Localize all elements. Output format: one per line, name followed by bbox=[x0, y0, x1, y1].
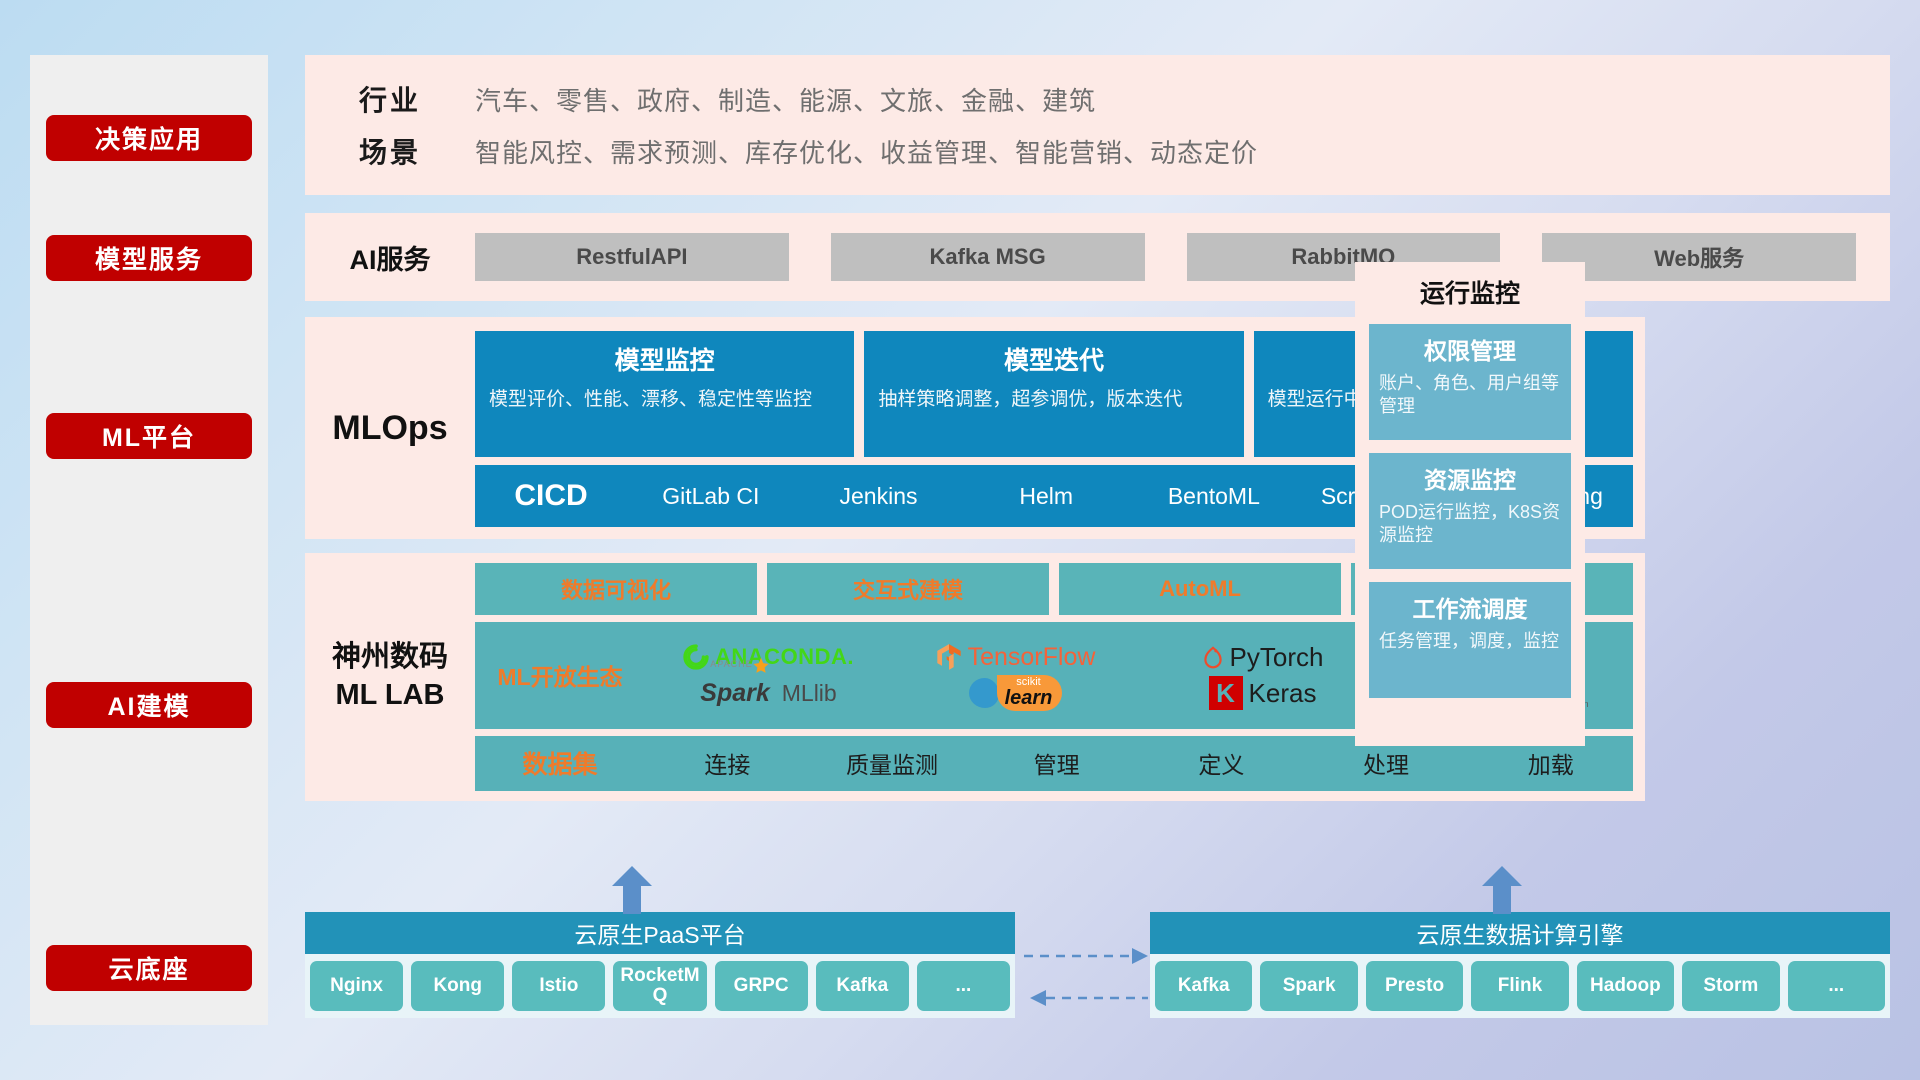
layer-chip-label: 模型服务 bbox=[95, 240, 203, 276]
bidirectional-dashed-arrows bbox=[1020, 938, 1150, 1018]
mlops-card-model-iteration[interactable]: 模型迭代 抽样策略调整，超参调优，版本迭代 bbox=[864, 331, 1243, 457]
card-title: 模型监控 bbox=[489, 341, 840, 377]
ml-lab-label-line1: 神州数码 bbox=[332, 639, 448, 677]
cloud-paas-items: Nginx Kong Istio RocketMQ GRPC Kafka ... bbox=[305, 954, 1015, 1018]
card-desc: 任务管理，调度，监控 bbox=[1379, 630, 1561, 653]
cloud-chip-storm[interactable]: Storm bbox=[1682, 961, 1779, 1011]
dataset-title: 数据集 bbox=[475, 745, 645, 781]
scenario-label: 场景 bbox=[305, 131, 475, 171]
pytorch-icon bbox=[1202, 644, 1224, 670]
mlops-label: MLOps bbox=[305, 317, 475, 539]
layer-chip-label: 云底座 bbox=[108, 950, 189, 986]
anaconda-icon bbox=[683, 644, 709, 670]
scenario-value: 智能风控、需求预测、库存优化、收益管理、智能营销、动态定价 bbox=[475, 133, 1258, 170]
cicd-item-jenkins[interactable]: Jenkins bbox=[795, 484, 963, 509]
card-desc: POD运行监控，K8S资源监控 bbox=[1379, 501, 1561, 548]
ml-lab-label: 神州数码 ML LAB bbox=[305, 553, 475, 801]
spark-wordmark: Spark bbox=[700, 679, 769, 707]
ai-service-items: RestfulAPI Kafka MSG RabbitMQ Web服务 bbox=[475, 233, 1890, 281]
cicd-item-gitlab-ci[interactable]: GitLab CI bbox=[627, 484, 795, 509]
layer-chip-label: ML平台 bbox=[102, 418, 196, 454]
tool-chip-data-visualization[interactable]: 数据可视化 bbox=[475, 563, 757, 615]
apache-tag: APACHE bbox=[710, 659, 752, 669]
cloud-chip-more-2[interactable]: ... bbox=[1788, 961, 1885, 1011]
cloud-paas-group: 云原生PaaS平台 Nginx Kong Istio RocketMQ GRPC… bbox=[305, 912, 1015, 1018]
cicd-item-bentoml[interactable]: BentoML bbox=[1130, 484, 1298, 509]
run-monitor-card-workflow[interactable]: 工作流调度 任务管理，调度，监控 bbox=[1369, 582, 1571, 698]
cloud-chip-nginx[interactable]: Nginx bbox=[310, 961, 403, 1011]
layer-chip-ml-platform[interactable]: ML平台 bbox=[46, 413, 252, 459]
keras-logo: K Keras bbox=[1139, 676, 1386, 710]
pytorch-wordmark: PyTorch bbox=[1230, 642, 1324, 673]
layer-chip-decision[interactable]: 决策应用 bbox=[46, 115, 252, 161]
cloud-chip-more[interactable]: ... bbox=[917, 961, 1010, 1011]
run-monitor-card-permission[interactable]: 权限管理 账户、角色、用户组等管理 bbox=[1369, 324, 1571, 440]
ai-service-chip-restfulapi[interactable]: RestfulAPI bbox=[475, 233, 789, 281]
scikit-orange-blob-icon: scikit learn bbox=[997, 675, 1063, 711]
layer-chip-model-service[interactable]: 模型服务 bbox=[46, 235, 252, 281]
pytorch-logo: PyTorch bbox=[1139, 642, 1386, 673]
mllib-wordmark: MLlib bbox=[782, 680, 837, 707]
run-monitor-panel: 运行监控 权限管理 账户、角色、用户组等管理 资源监控 POD运行监控，K8S资… bbox=[1355, 262, 1585, 746]
cloud-compute-items: Kafka Spark Presto Flink Hadoop Storm ..… bbox=[1150, 954, 1890, 1018]
decision-application-panel: 行业 汽车、零售、政府、制造、能源、文旅、金融、建筑 场景 智能风控、需求预测、… bbox=[305, 55, 1890, 195]
cicd-item-helm[interactable]: Helm bbox=[962, 484, 1130, 509]
ml-lab-label-line2: ML LAB bbox=[332, 677, 448, 715]
tool-chip-automl[interactable]: AutoML bbox=[1059, 563, 1341, 615]
dataset-item-process[interactable]: 处理 bbox=[1304, 746, 1469, 780]
card-desc: 账户、角色、用户组等管理 bbox=[1379, 372, 1561, 419]
dataset-item-quality[interactable]: 质量监测 bbox=[810, 746, 975, 780]
cicd-title: CICD bbox=[475, 479, 627, 513]
run-monitor-card-resource[interactable]: 资源监控 POD运行监控，K8S资源监控 bbox=[1369, 453, 1571, 569]
tensorflow-icon bbox=[936, 643, 962, 671]
cloud-chip-flink[interactable]: Flink bbox=[1471, 961, 1568, 1011]
ai-service-chip-web[interactable]: Web服务 bbox=[1542, 233, 1856, 281]
card-title: 资源监控 bbox=[1379, 461, 1561, 495]
tool-chip-interactive-modeling[interactable]: 交互式建模 bbox=[767, 563, 1049, 615]
cloud-chip-hadoop[interactable]: Hadoop bbox=[1577, 961, 1674, 1011]
spark-star-icon bbox=[752, 657, 770, 675]
cloud-chip-kafka[interactable]: Kafka bbox=[816, 961, 909, 1011]
industry-label: 行业 bbox=[305, 79, 475, 119]
industry-row: 行业 汽车、零售、政府、制造、能源、文旅、金融、建筑 bbox=[305, 73, 1890, 125]
layer-chip-cloud-base[interactable]: 云底座 bbox=[46, 945, 252, 991]
up-arrow-compute-icon bbox=[1480, 866, 1524, 914]
cloud-chip-grpc[interactable]: GRPC bbox=[715, 961, 808, 1011]
dataset-item-load[interactable]: 加载 bbox=[1468, 746, 1633, 780]
dataset-items: 连接 质量监测 管理 定义 处理 加载 bbox=[645, 746, 1633, 780]
tensorflow-logo: TensorFlow bbox=[892, 643, 1139, 672]
up-arrow-paas-icon bbox=[610, 866, 654, 914]
cloud-chip-kong[interactable]: Kong bbox=[411, 961, 504, 1011]
layer-rail: 决策应用 模型服务 ML平台 AI建模 云底座 bbox=[30, 55, 268, 1025]
scikit-learn-logo: scikit learn bbox=[892, 675, 1139, 711]
cloud-chip-rocketmq[interactable]: RocketMQ bbox=[613, 961, 706, 1011]
cloud-chip-spark[interactable]: Spark bbox=[1260, 961, 1357, 1011]
run-monitor-title: 运行监控 bbox=[1369, 274, 1571, 310]
industry-value: 汽车、零售、政府、制造、能源、文旅、金融、建筑 bbox=[475, 81, 1096, 118]
ai-service-panel: AI服务 RestfulAPI Kafka MSG RabbitMQ Web服务 bbox=[305, 213, 1890, 301]
card-title: 模型迭代 bbox=[878, 341, 1229, 377]
cloud-chip-istio[interactable]: Istio bbox=[512, 961, 605, 1011]
ai-service-label: AI服务 bbox=[305, 238, 475, 277]
scenario-row: 场景 智能风控、需求预测、库存优化、收益管理、智能营销、动态定价 bbox=[305, 125, 1890, 177]
spark-mllib-logo: APACHE Spark MLlib bbox=[645, 679, 892, 708]
layer-chip-label: AI建模 bbox=[107, 687, 190, 723]
learn-word: learn bbox=[1005, 688, 1053, 708]
keras-wordmark: Keras bbox=[1249, 678, 1317, 709]
cloud-compute-title: 云原生数据计算引擎 bbox=[1150, 912, 1890, 954]
card-desc: 抽样策略调整，超参调优，版本迭代 bbox=[878, 387, 1229, 412]
card-desc: 模型评价、性能、漂移、稳定性等监控 bbox=[489, 387, 840, 412]
tensorflow-wordmark: TensorFlow bbox=[968, 643, 1096, 672]
ai-service-chip-kafka-msg[interactable]: Kafka MSG bbox=[831, 233, 1145, 281]
card-title: 权限管理 bbox=[1379, 332, 1561, 366]
cloud-chip-kafka-2[interactable]: Kafka bbox=[1155, 961, 1252, 1011]
mlops-card-model-monitoring[interactable]: 模型监控 模型评价、性能、漂移、稳定性等监控 bbox=[475, 331, 854, 457]
cloud-compute-engine-group: 云原生数据计算引擎 Kafka Spark Presto Flink Hadoo… bbox=[1150, 912, 1890, 1018]
layer-chip-label: 决策应用 bbox=[95, 120, 203, 156]
dataset-item-connect[interactable]: 连接 bbox=[645, 746, 810, 780]
layer-chip-ai-modeling[interactable]: AI建模 bbox=[46, 682, 252, 728]
card-title: 工作流调度 bbox=[1379, 590, 1561, 624]
ml-open-ecosystem-label: ML开放生态 bbox=[475, 658, 645, 692]
scikit-blue-blob-icon bbox=[969, 678, 999, 708]
cloud-chip-presto[interactable]: Presto bbox=[1366, 961, 1463, 1011]
dataset-item-define[interactable]: 定义 bbox=[1139, 746, 1304, 780]
cloud-paas-title: 云原生PaaS平台 bbox=[305, 912, 1015, 954]
dataset-item-manage[interactable]: 管理 bbox=[974, 746, 1139, 780]
keras-k-icon: K bbox=[1209, 676, 1243, 710]
